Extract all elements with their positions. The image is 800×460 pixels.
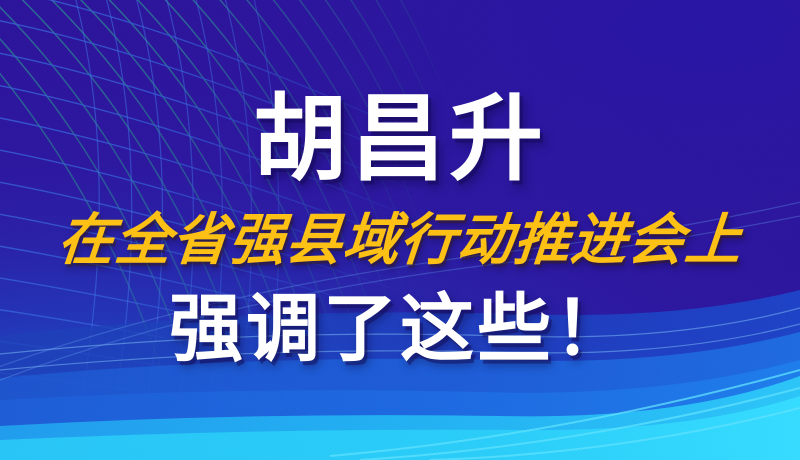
poster-headline: 胡昌升 <box>0 92 800 186</box>
poster-emphasis-line: 强调了这些！ <box>0 292 800 366</box>
poster-banner: 胡昌升 在全省强县域行动推进会上 强调了这些！ <box>0 0 800 460</box>
poster-content: 胡昌升 在全省强县域行动推进会上 强调了这些！ <box>0 0 800 460</box>
poster-subheadline-script: 在全省强县域行动推进会上 <box>0 212 800 268</box>
